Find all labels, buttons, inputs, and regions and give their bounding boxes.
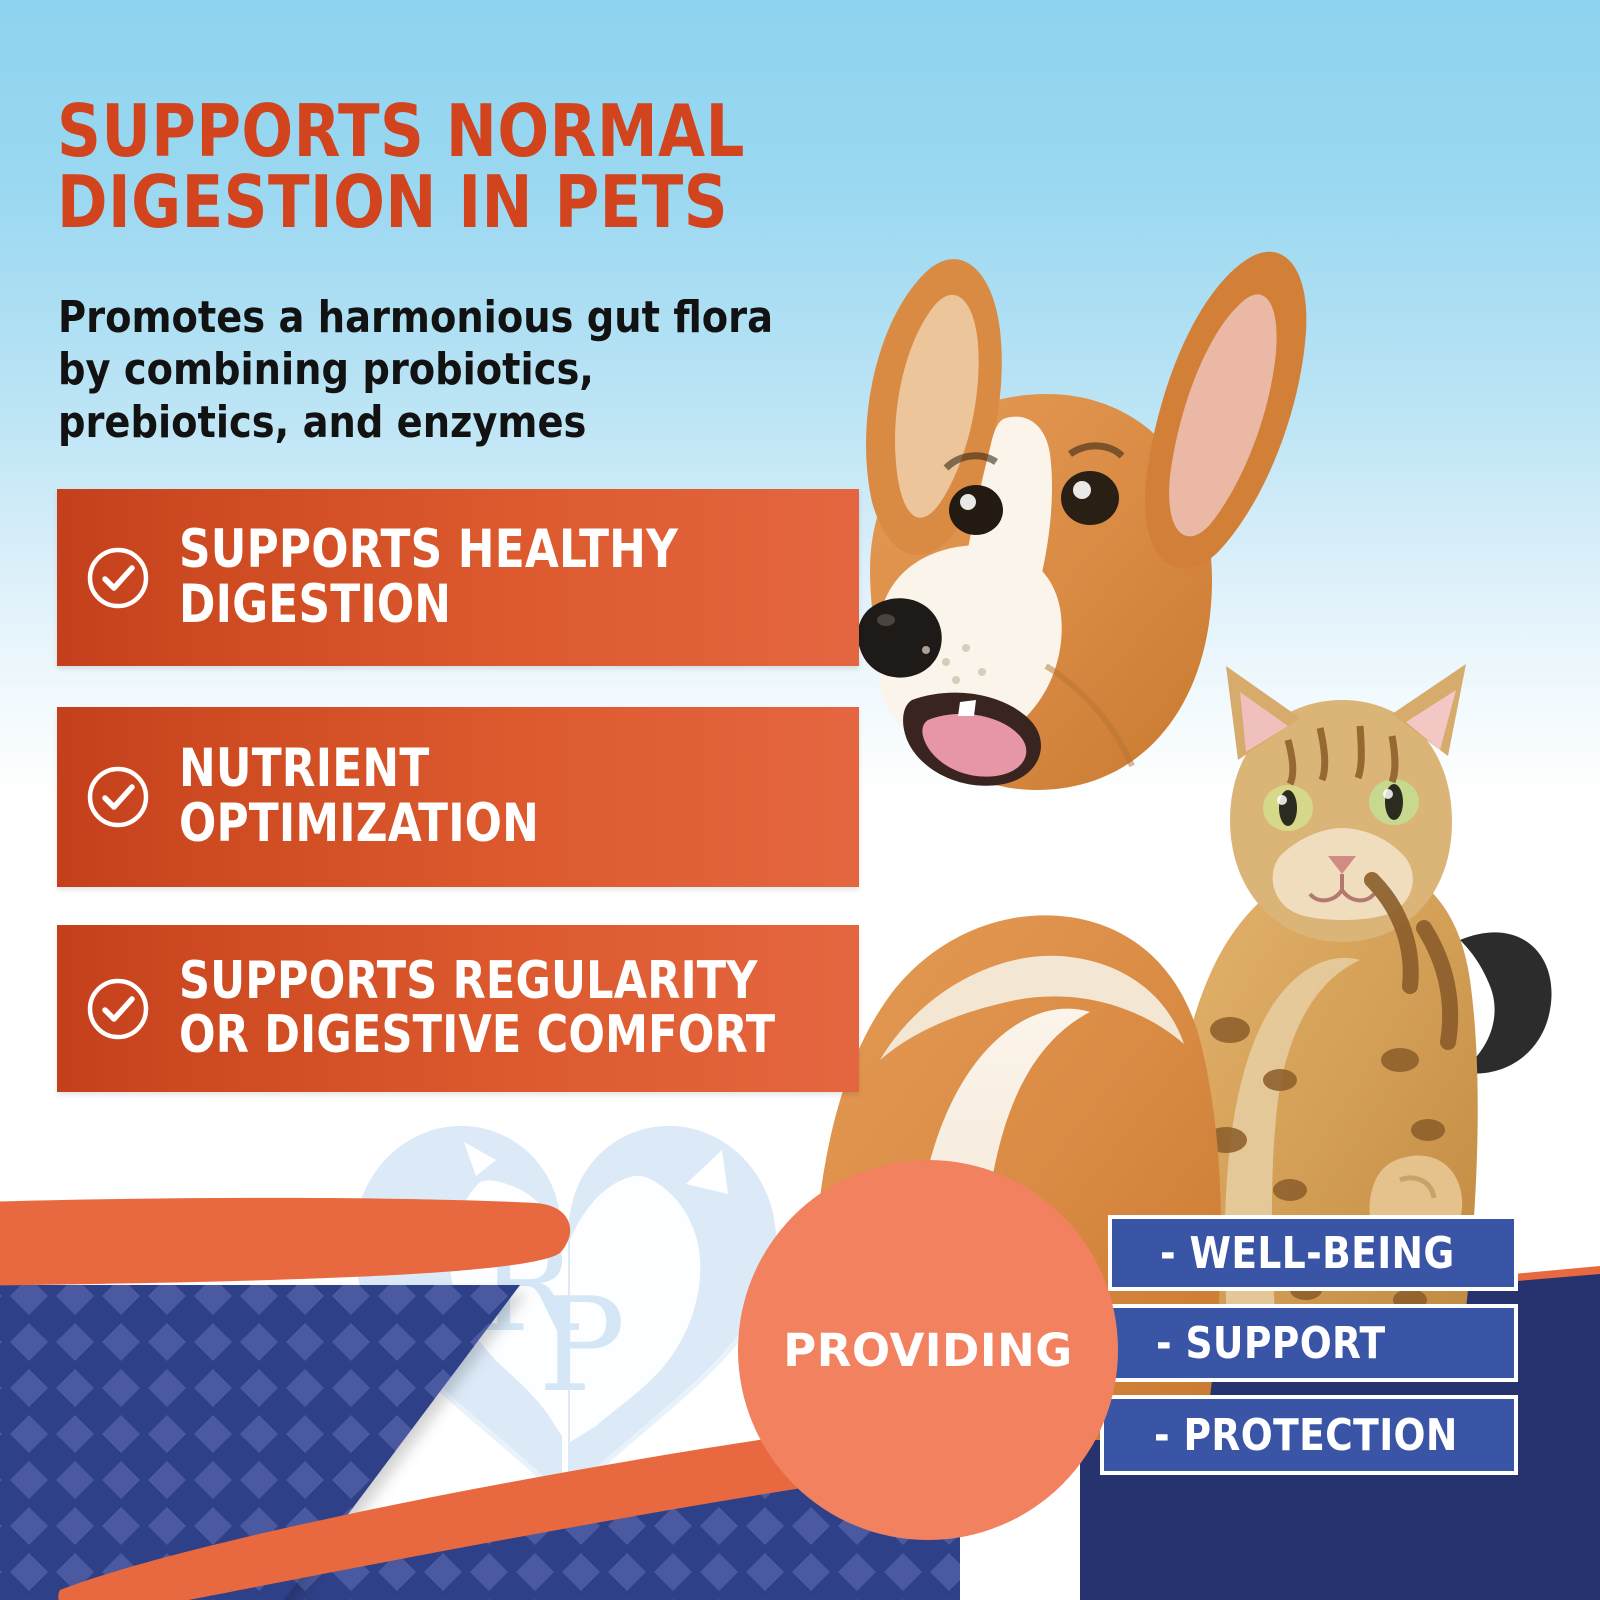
benefit-label: - PROTECTION [1154, 1410, 1458, 1461]
benefit-label: - SUPPORT [1156, 1318, 1386, 1369]
benefit-bar-protection: - PROTECTION [1100, 1395, 1518, 1475]
benefit-bar-support: - SUPPORT [1090, 1304, 1518, 1382]
providing-badge: PROVIDING [738, 1160, 1118, 1540]
check-circle-icon [57, 764, 179, 830]
check-circle-icon [57, 976, 179, 1042]
benefit-label: - WELL-BEING [1160, 1228, 1455, 1279]
page-subtitle: Promotes a harmonious gut flora by combi… [58, 292, 795, 449]
feature-bar-regularity: SUPPORTS REGULARITY OR DIGESTIVE COMFORT [57, 925, 859, 1092]
feature-label: NUTRIENT OPTIMIZATION [179, 742, 539, 851]
feature-label: SUPPORTS REGULARITY OR DIGESTIVE COMFORT [179, 955, 775, 1062]
headline-line-2: DIGESTION IN PETS [57, 167, 903, 238]
feature-bar-nutrient: NUTRIENT OPTIMIZATION [57, 707, 859, 887]
providing-label: PROVIDING [783, 1324, 1072, 1377]
benefit-bar-wellbeing: - WELL-BEING [1108, 1215, 1518, 1291]
poster-canvas: R P [0, 0, 1600, 1600]
check-circle-icon [57, 545, 179, 611]
page-title: SUPPORTS NORMAL DIGESTION IN PETS [57, 96, 903, 237]
feature-label: SUPPORTS HEALTHY DIGESTION [179, 523, 678, 632]
feature-bar-digestion: SUPPORTS HEALTHY DIGESTION [57, 489, 859, 666]
